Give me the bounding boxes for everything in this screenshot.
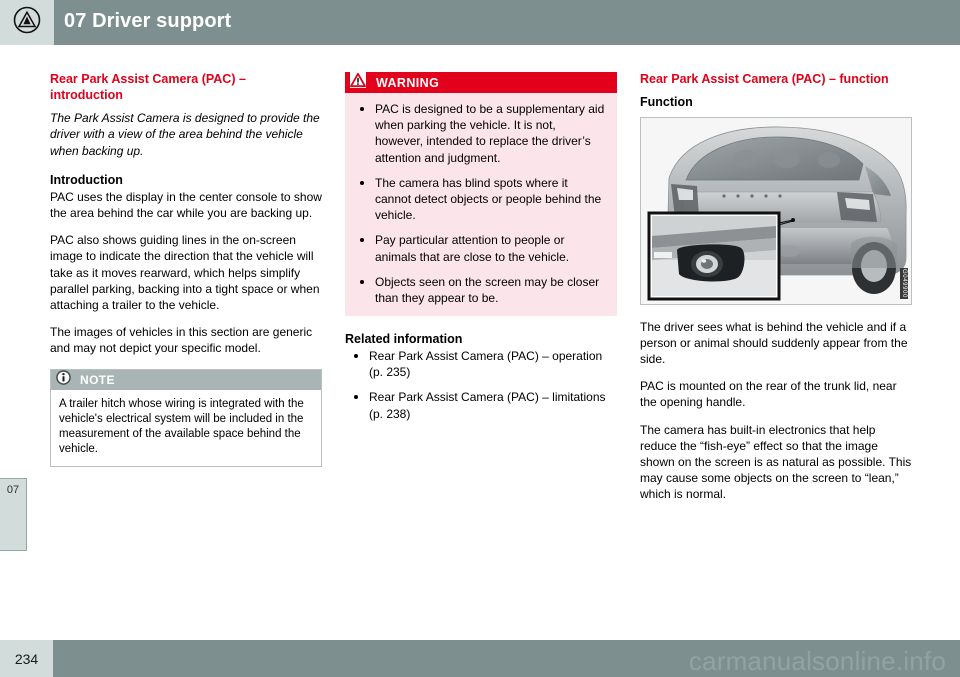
note-box: NOTE A trailer hitch whose wiring is int… — [50, 369, 322, 468]
warning-bullet-list: PAC is designed to be a supplementary ai… — [349, 101, 607, 306]
warning-bullet-item: Objects seen on the screen may be closer… — [349, 274, 607, 306]
figure-rear-camera-location: G049900 — [640, 117, 912, 305]
header-icon-container — [0, 0, 54, 45]
section-title-function: Rear Park Assist Camera (PAC) – function — [640, 72, 912, 88]
site-watermark: carmanualsonline.info — [689, 646, 946, 677]
note-box-label: NOTE — [80, 373, 115, 387]
related-link-item[interactable]: Rear Park Assist Camera (PAC) – limitati… — [345, 389, 617, 421]
warning-box-header: WARNING — [345, 72, 617, 93]
warning-triangle-icon — [350, 72, 366, 93]
subheading-introduction: Introduction — [50, 173, 322, 187]
paragraph: PAC is mounted on the rear of the trunk … — [640, 378, 912, 410]
chapter-tab-label: 07 — [7, 484, 19, 550]
paragraph: PAC also shows guiding lines in the on-s… — [50, 232, 322, 313]
related-information-heading: Related information — [345, 332, 617, 346]
paragraph: The camera has built-in electronics that… — [640, 422, 912, 503]
page-title: 07 Driver support — [64, 10, 231, 33]
note-box-text: A trailer hitch whose wiring is integrat… — [51, 390, 321, 467]
content-column-left: Rear Park Assist Camera (PAC) – introduc… — [50, 72, 322, 467]
related-link-item[interactable]: Rear Park Assist Camera (PAC) – operatio… — [345, 348, 617, 380]
paragraph: PAC uses the display in the center conso… — [50, 189, 322, 221]
subheading-function: Function — [640, 95, 912, 109]
warning-bullet-item: Pay particular attention to people or an… — [349, 232, 607, 264]
warning-bullet-item: The camera has blind spots where it cann… — [349, 175, 607, 224]
related-information-section: Related information Rear Park Assist Cam… — [345, 332, 617, 422]
camera-detail-inset — [649, 213, 779, 299]
warning-bullet-item: PAC is designed to be a supplementary ai… — [349, 101, 607, 166]
warning-box: WARNING PAC is designed to be a suppleme… — [345, 72, 617, 316]
volvo-rear-view-illustration — [641, 118, 911, 304]
section-title-introduction: Rear Park Assist Camera (PAC) – introduc… — [50, 72, 322, 103]
warning-box-body: PAC is designed to be a supplementary ai… — [345, 93, 617, 316]
content-column-right: Rear Park Assist Camera (PAC) – function… — [640, 72, 912, 514]
page-number: 234 — [15, 651, 38, 667]
warning-box-label: WARNING — [376, 76, 439, 90]
info-circle-icon — [56, 370, 71, 390]
related-information-list: Rear Park Assist Camera (PAC) – operatio… — [345, 348, 617, 422]
paragraph: The images of vehicles in this section a… — [50, 324, 322, 356]
note-box-header: NOTE — [51, 370, 321, 390]
content-column-middle: WARNING PAC is designed to be a suppleme… — [345, 72, 617, 422]
figure-image-id: G049900 — [900, 268, 908, 299]
page-number-container: 234 — [0, 640, 53, 677]
intro-lead-paragraph: The Park Assist Camera is designed to pr… — [50, 110, 322, 159]
chapter-tab-07: 07 — [0, 478, 27, 551]
paragraph: The driver sees what is behind the vehic… — [640, 319, 912, 368]
warning-triangle-icon — [13, 6, 41, 39]
